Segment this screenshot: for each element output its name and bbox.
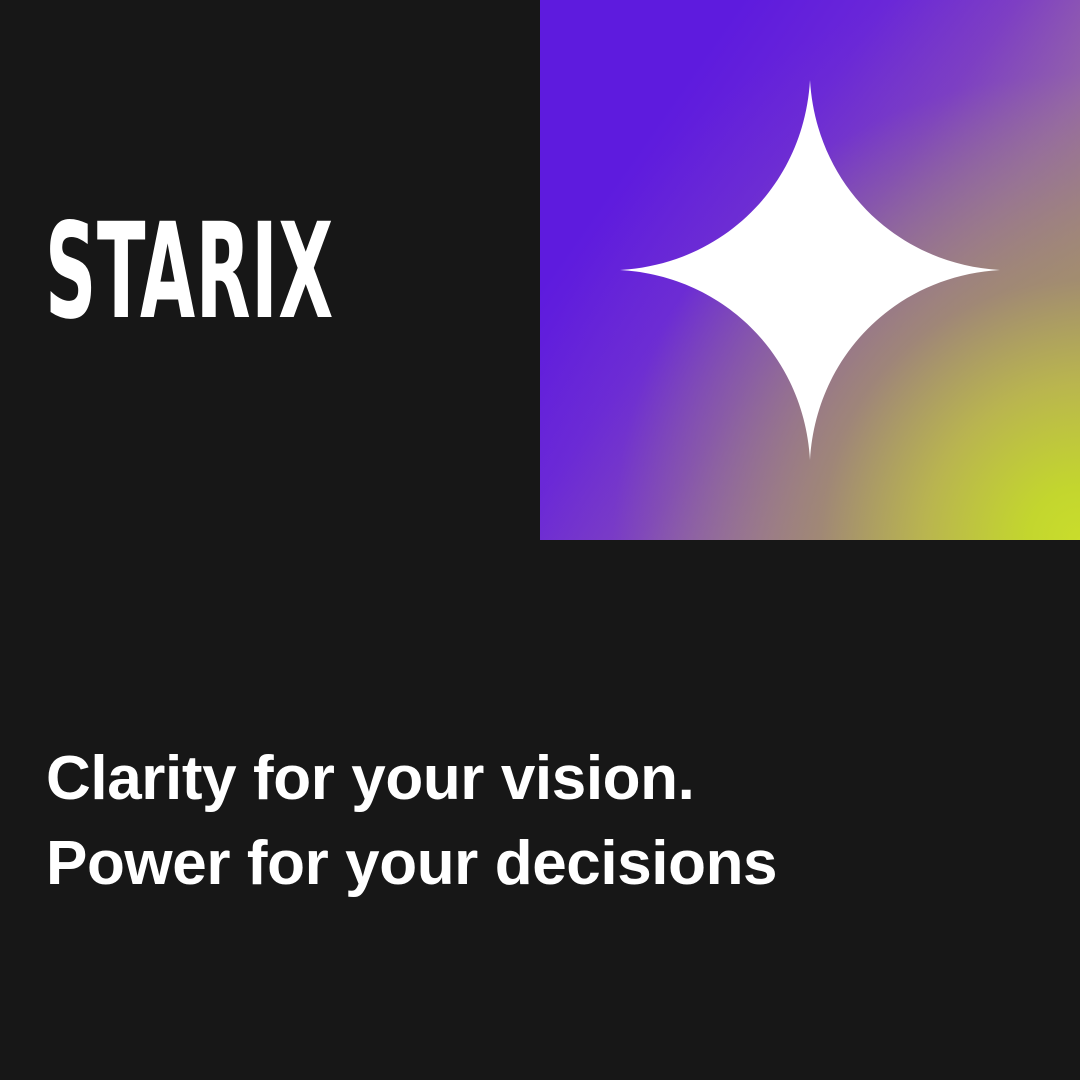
headline-line-2: Power for your decisions: [46, 821, 946, 906]
brand-wordmark: STARIX: [45, 206, 334, 338]
four-point-sparkle-icon: [620, 80, 1000, 460]
logo-artwork-panel: [540, 0, 1080, 540]
headline-line-1: Clarity for your vision.: [46, 736, 946, 821]
headline-block: Clarity for your vision. Power for your …: [46, 736, 946, 906]
brand-card: STARIX Clarity for your vision. Power fo…: [0, 0, 1080, 1080]
